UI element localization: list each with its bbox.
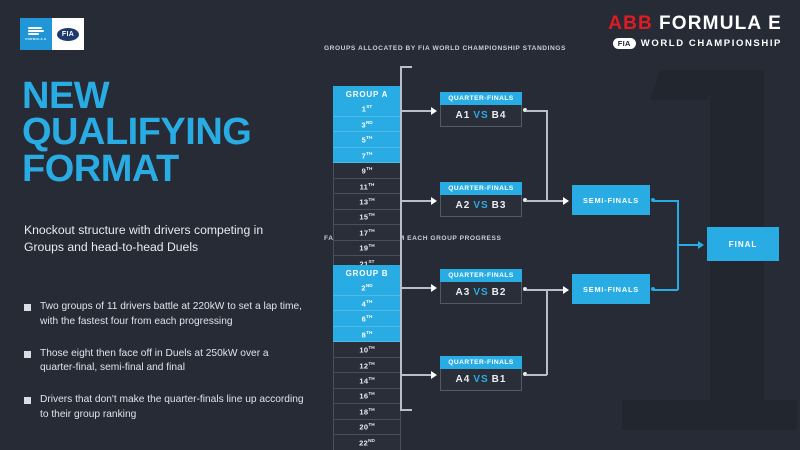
quarter-final-header: QUARTER-FINALS	[440, 269, 522, 282]
connector-spine-top	[400, 66, 412, 68]
world-championship-text: WORLD CHAMPIONSHIP	[641, 38, 782, 49]
group-b-header: GROUP B	[333, 265, 401, 281]
group-position-row: 13TH	[333, 194, 401, 209]
group-position-row: 10TH	[333, 342, 401, 357]
away-entrant: B4	[492, 110, 507, 121]
group-position-row: 9TH	[333, 163, 401, 178]
bullet-text: Drivers that don't make the quarter-fina…	[40, 393, 304, 423]
connector-sf2-out	[654, 289, 678, 291]
group-position-row: 15TH	[333, 210, 401, 225]
group-position-row: 19TH	[333, 241, 401, 256]
group-position-row: 18TH	[333, 404, 401, 419]
quarter-final-3: QUARTER-FINALS A3VSB2	[440, 269, 522, 304]
connector-sf1-out	[654, 200, 678, 202]
watermark-numeral-one-base	[622, 400, 797, 430]
connector-qf4-up	[546, 289, 548, 375]
connector-spine-bottom	[400, 409, 412, 411]
connector-qf3-to-sf2	[526, 289, 564, 291]
group-position-row: 5TH	[333, 132, 401, 147]
list-item: Those eight then face off in Duels at 25…	[24, 347, 304, 377]
group-a-qualified-rows: 1ST3RD5TH7TH	[333, 102, 401, 164]
championship-subtitle-row: FIA WORLD CHAMPIONSHIP	[608, 38, 782, 49]
home-entrant: A1	[456, 110, 471, 121]
group-position-row: 14TH	[333, 373, 401, 388]
bullet-list: Two groups of 11 drivers battle at 220kW…	[24, 300, 304, 440]
connector-spine-to-qf2	[400, 200, 432, 202]
connector-spine-to-qf4	[400, 374, 432, 376]
away-entrant: B3	[492, 200, 507, 211]
championship-title-row: ABBFORMULA E	[608, 14, 782, 33]
group-position-row: 6TH	[333, 311, 401, 326]
arrow-into-sf2-icon	[563, 286, 569, 294]
fia-logo-box: FIA	[52, 18, 84, 50]
arrow-into-qf4-icon	[431, 371, 437, 379]
bullet-text: Those eight then face off in Duels at 25…	[40, 347, 304, 377]
page-subtitle: Knockout structure with drivers competin…	[24, 222, 294, 257]
groups-allocated-label: GROUPS ALLOCATED BY FIA WORLD CHAMPIONSH…	[324, 44, 566, 54]
arrow-into-sf1-icon	[563, 197, 569, 205]
group-position-row: 22ND	[333, 435, 401, 450]
group-position-row: 3RD	[333, 117, 401, 132]
list-item: Two groups of 11 drivers battle at 220kW…	[24, 300, 304, 330]
title-line-2: QUALIFYING	[22, 114, 251, 150]
quarter-final-2: QUARTER-FINALS A2VSB3	[440, 182, 522, 217]
arrow-into-qf1-icon	[431, 107, 437, 115]
semi-final-1: SEMI-FINALS	[572, 185, 650, 215]
title-line-1: NEW	[22, 78, 251, 114]
formula-e-wordmark: FORMULA E	[659, 13, 782, 34]
group-position-row: 4TH	[333, 296, 401, 311]
home-entrant: A3	[456, 287, 471, 298]
connector-qf2-to-sf1	[526, 200, 564, 202]
connector-qf1-down	[546, 110, 548, 200]
formula-e-logo-text: FORMULA E	[25, 37, 46, 41]
abb-formula-e-world-championship-logo: ABBFORMULA E FIA WORLD CHAMPIONSHIP	[608, 14, 782, 49]
group-b-other-rows: 10TH12TH14TH16TH18TH20TH22ND	[333, 342, 401, 450]
bullet-square-icon	[24, 304, 31, 311]
bullet-square-icon	[24, 351, 31, 358]
watermark-numeral-one-serif	[650, 70, 718, 100]
quarter-final-matchup: A3VSB2	[440, 282, 522, 304]
group-position-row: 11TH	[333, 179, 401, 194]
group-position-row: 17TH	[333, 225, 401, 240]
quarter-final-header: QUARTER-FINALS	[440, 92, 522, 105]
qualifying-format-infographic: FORMULA E FIA ABBFORMULA E FIA WORLD CHA…	[0, 0, 800, 450]
vs-label: VS	[473, 374, 488, 385]
group-a-header: GROUP A	[333, 86, 401, 102]
formula-e-logo-icon: FORMULA E	[20, 18, 52, 50]
group-b-table: GROUP B 2ND4TH6TH8TH 10TH12TH14TH16TH18T…	[333, 265, 401, 450]
semi-final-2: SEMI-FINALS	[572, 274, 650, 304]
quarter-final-matchup: A2VSB3	[440, 195, 522, 217]
bullet-text: Two groups of 11 drivers battle at 220kW…	[40, 300, 304, 330]
group-position-row: 12TH	[333, 358, 401, 373]
quarter-final-matchup: A4VSB1	[440, 369, 522, 391]
list-item: Drivers that don't make the quarter-fina…	[24, 393, 304, 423]
group-position-row: 16TH	[333, 389, 401, 404]
arrow-into-qf2-icon	[431, 197, 437, 205]
connector-qf1-out	[526, 110, 547, 112]
group-b-qualified-rows: 2ND4TH6TH8TH	[333, 281, 401, 343]
bullet-square-icon	[24, 397, 31, 404]
formula-e-mark-icon	[28, 27, 44, 35]
away-entrant: B1	[492, 374, 507, 385]
arrow-into-qf3-icon	[431, 284, 437, 292]
group-position-row: 7TH	[333, 148, 401, 163]
group-position-row: 1ST	[333, 102, 401, 117]
connector-spine-to-qf1	[400, 110, 432, 112]
home-entrant: A2	[456, 200, 471, 211]
vs-label: VS	[473, 200, 488, 211]
page-title: NEW QUALIFYING FORMAT	[22, 78, 251, 187]
quarter-final-1: QUARTER-FINALS A1VSB4	[440, 92, 522, 127]
home-entrant: A4	[456, 374, 471, 385]
abb-wordmark: ABB	[608, 13, 653, 34]
away-entrant: B2	[492, 287, 507, 298]
connector-spine-vertical	[400, 66, 402, 411]
group-a-table: GROUP A 1ST3RD5TH7TH 9TH11TH13TH15TH17TH…	[333, 86, 401, 272]
final-box: FINAL	[707, 227, 779, 261]
vs-label: VS	[473, 287, 488, 298]
group-position-row: 8TH	[333, 327, 401, 342]
fia-badge: FIA	[613, 38, 636, 49]
quarter-final-matchup: A1VSB4	[440, 105, 522, 127]
quarter-final-header: QUARTER-FINALS	[440, 182, 522, 195]
formula-e-fia-logo: FORMULA E FIA	[20, 18, 84, 50]
arrow-into-final-icon	[698, 241, 704, 249]
group-a-other-rows: 9TH11TH13TH15TH17TH19TH21ST	[333, 163, 401, 271]
group-position-row: 2ND	[333, 281, 401, 296]
connector-to-final	[677, 244, 699, 246]
quarter-final-header: QUARTER-FINALS	[440, 356, 522, 369]
group-position-row: 20TH	[333, 420, 401, 435]
quarter-final-4: QUARTER-FINALS A4VSB1	[440, 356, 522, 391]
title-line-3: FORMAT	[22, 151, 251, 187]
connector-qf4-out	[526, 374, 547, 376]
vs-label: VS	[473, 110, 488, 121]
connector-spine-to-qf3	[400, 287, 432, 289]
fia-logo-text: FIA	[57, 28, 79, 41]
